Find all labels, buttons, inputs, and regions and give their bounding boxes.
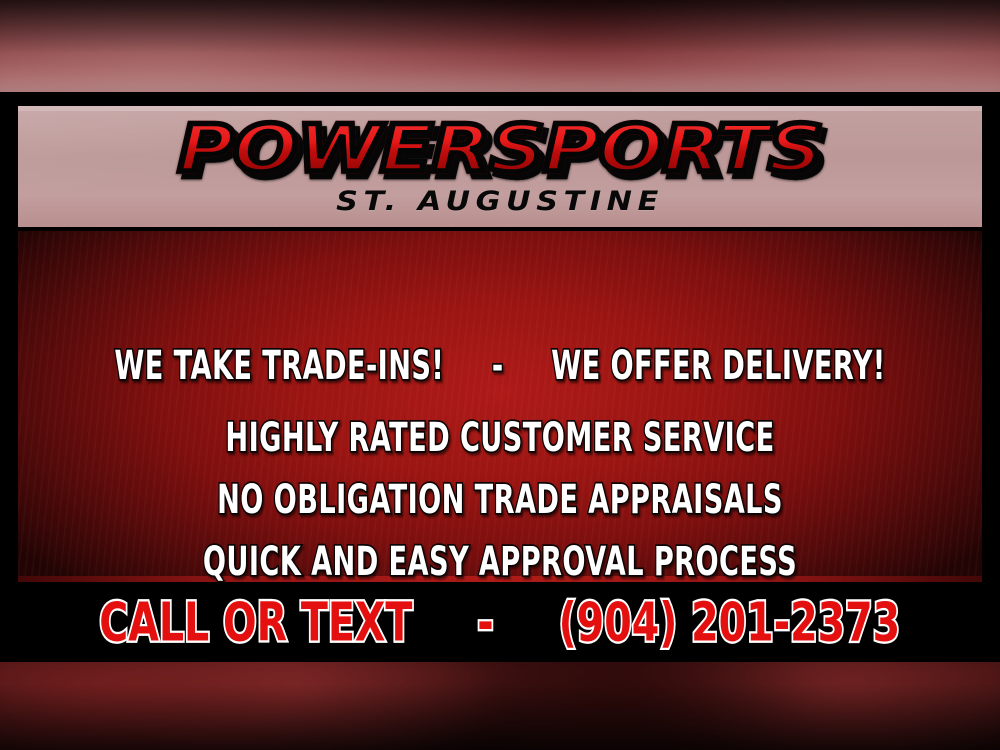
feature-trade-ins: WE TAKE TRADE-INS! (114, 346, 444, 386)
feature-line-0: WE TAKE TRADE-INS! - WE OFFER DELIVERY! (114, 346, 885, 386)
contact-separator-dash: - (413, 593, 559, 651)
contact-row: CALL OR TEXT - (904) 201-2373 (99, 593, 900, 651)
brand-location: ST. AUGUSTINE (18, 186, 982, 218)
logo-plate: POWERSPORTS ST. AUGUSTINE (18, 106, 982, 227)
contact-bar: CALL OR TEXT - (904) 201-2373 (0, 582, 1000, 662)
feature-delivery: WE OFFER DELIVERY! (551, 346, 885, 386)
feature-line-2: NO OBLIGATION TRADE APPRAISALS (114, 480, 885, 520)
feature-row: WE TAKE TRADE-INS! - WE OFFER DELIVERY! (18, 349, 982, 383)
call-or-text-label: CALL OR TEXT (99, 593, 412, 651)
feature-customer-service: HIGHLY RATED CUSTOMER SERVICE (225, 418, 774, 458)
advertisement-banner: POWERSPORTS ST. AUGUSTINE WE TAKE TRADE-… (0, 0, 1000, 750)
feature-row: NO OBLIGATION TRADE APPRAISALS (18, 483, 982, 517)
brand-wordmark: POWERSPORTS (18, 115, 982, 184)
feature-row: HIGHLY RATED CUSTOMER SERVICE (18, 421, 982, 455)
phone-number[interactable]: (904) 201-2373 (559, 593, 901, 651)
feature-line-1: HIGHLY RATED CUSTOMER SERVICE (114, 418, 885, 458)
feature-separator-dash: - (444, 346, 551, 386)
feature-approval-process: QUICK AND EASY APPROVAL PROCESS (203, 542, 797, 582)
features-panel: WE TAKE TRADE-INS! - WE OFFER DELIVERY! … (18, 231, 982, 582)
feature-trade-appraisals: NO OBLIGATION TRADE APPRAISALS (217, 480, 783, 520)
feature-row: QUICK AND EASY APPROVAL PROCESS (18, 545, 982, 579)
ad-card: POWERSPORTS ST. AUGUSTINE WE TAKE TRADE-… (0, 92, 1000, 662)
feature-line-3: QUICK AND EASY APPROVAL PROCESS (114, 542, 885, 582)
